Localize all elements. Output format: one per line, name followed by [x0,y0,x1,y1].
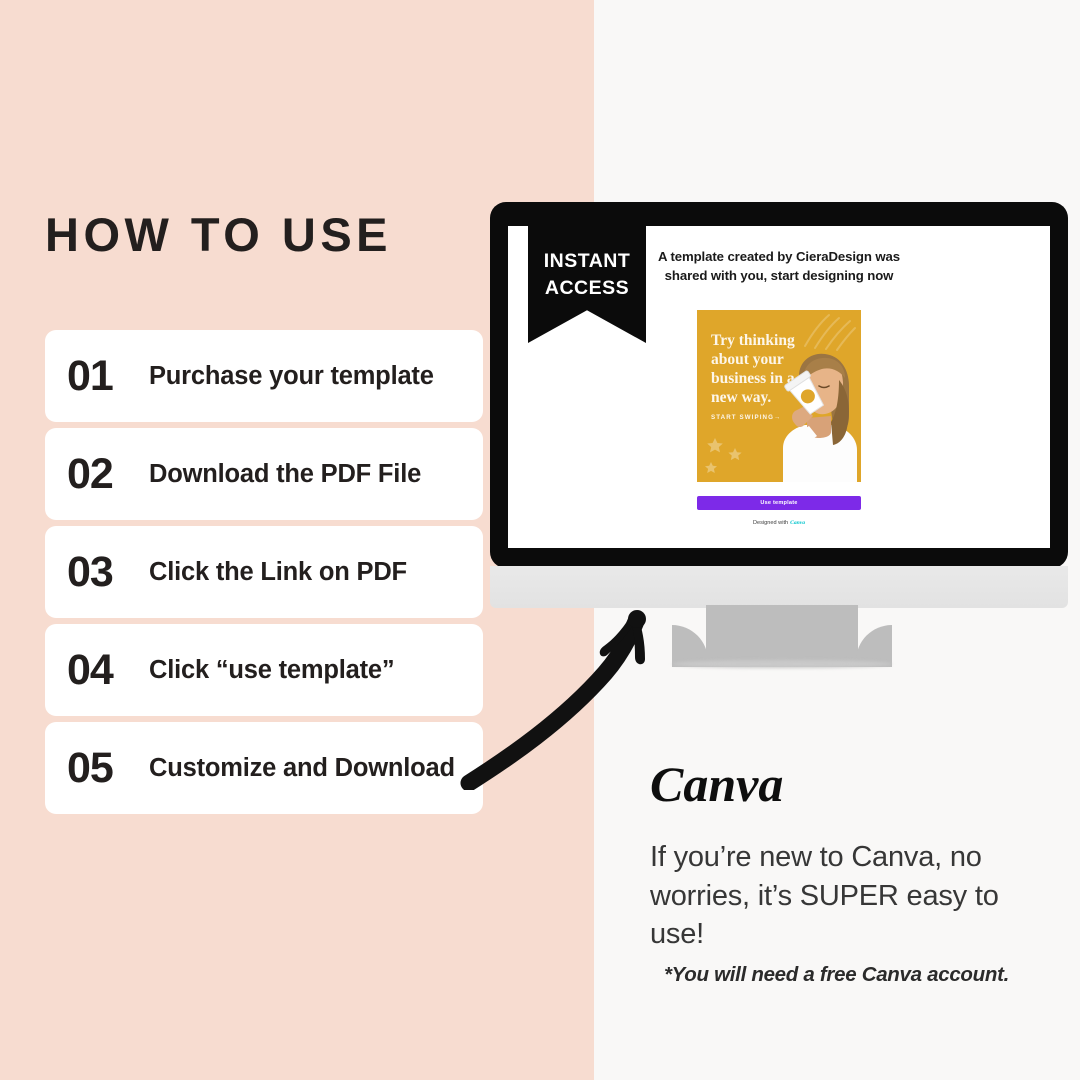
tagline-text: If you’re new to Canva, no worries, it’s… [650,838,1010,954]
step-number: 03 [67,551,155,594]
step-label: Download the PDF File [149,460,421,488]
footnote-text: *You will need a free Canva account. [664,963,1074,987]
ribbon-line-2: ACCESS [545,275,629,302]
step-number: 04 [67,649,155,692]
step-card-02[interactable]: 02 Download the PDF File [45,428,483,520]
canva-brand-inline: Canva [790,520,805,526]
canva-logo: Canva [650,757,794,813]
page-title: HOW TO USE [45,211,392,258]
step-label: Click the Link on PDF [149,558,407,586]
instant-access-ribbon: INSTANT ACCESS [528,226,646,343]
monitor-screen: INSTANT ACCESS A template created by Cie… [508,226,1050,548]
step-label: Purchase your template [149,362,434,390]
step-card-03[interactable]: 03 Click the Link on PDF [45,526,483,618]
designed-with-prefix: Designed with [753,520,788,526]
steps-list: 01 Purchase your template 02 Download th… [45,330,483,820]
step-number: 01 [67,355,155,398]
person-photo [761,350,861,482]
designed-with-canva: Designed with Canva [753,520,805,526]
desktop-monitor: INSTANT ACCESS A template created by Cie… [490,202,1068,568]
stars-decoration [701,432,755,478]
step-card-01[interactable]: 01 Purchase your template [45,330,483,422]
step-card-04[interactable]: 04 Click “use template” [45,624,483,716]
share-headline: A template created by CieraDesign was sh… [654,248,904,285]
curved-arrow-icon [455,545,685,790]
use-template-button[interactable]: Use template [697,496,861,510]
step-label: Click “use template” [149,656,394,684]
poster-canvas: HOW TO USE 01 Purchase your template 02 … [0,0,1080,1080]
use-template-label: Use template [760,500,797,506]
canva-wordmark: Canva [650,757,783,812]
step-number: 05 [67,747,155,790]
step-label: Customize and Download [149,754,455,782]
monitor-stand [706,605,858,667]
template-thumbnail[interactable]: Try thinking about your business in a ne… [697,310,861,482]
monitor-foot-shadow [672,660,892,668]
step-number: 02 [67,453,155,496]
ribbon-line-1: INSTANT [544,248,631,275]
step-card-05[interactable]: 05 Customize and Download [45,722,483,814]
